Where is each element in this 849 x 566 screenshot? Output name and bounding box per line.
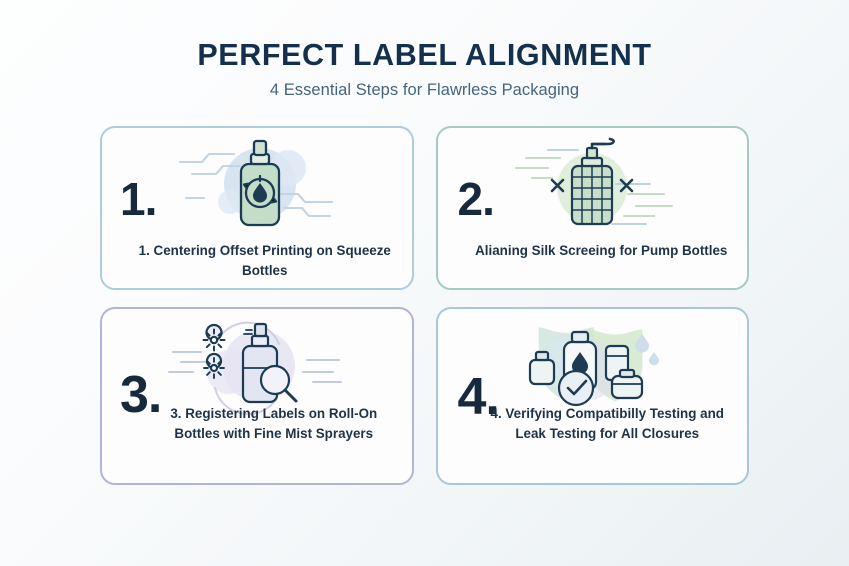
infographic-poster: PERFECT LABEL ALIGNMENT 4 Essential Step…: [0, 0, 849, 566]
step-card-4[interactable]: 4.: [436, 307, 750, 485]
pump-bottle-grid-icon: [438, 135, 748, 239]
poster-header: PERFECT LABEL ALIGNMENT 4 Essential Step…: [100, 38, 749, 100]
steps-grid: 1.: [100, 126, 749, 485]
step-caption-1: 1. Centering Offset Printing on Squeeze …: [132, 241, 398, 281]
step-card-1[interactable]: 1.: [100, 126, 414, 290]
page-subtitle: 4 Essential Steps for Flawrless Packagin…: [100, 81, 749, 100]
step-caption-4: 4. Verifying Compatibilly Testing and Le…: [484, 404, 732, 444]
step-card-2[interactable]: 2.: [436, 126, 750, 290]
squeeze-spray-bottle-droplet-icon: [102, 135, 412, 239]
step-card-3[interactable]: 3.: [100, 307, 414, 485]
step-caption-2: Alianing Silk Screeing for Pump Bottles: [474, 241, 730, 261]
page-title: PERFECT LABEL ALIGNMENT: [100, 38, 749, 72]
spray-bottle-gears-magnifier-icon: [102, 317, 412, 417]
step-caption-3: 3. Registering Labels on Roll-On Bottles…: [150, 404, 398, 444]
shield-bottles-checkmark-droplets-icon: [438, 317, 748, 417]
